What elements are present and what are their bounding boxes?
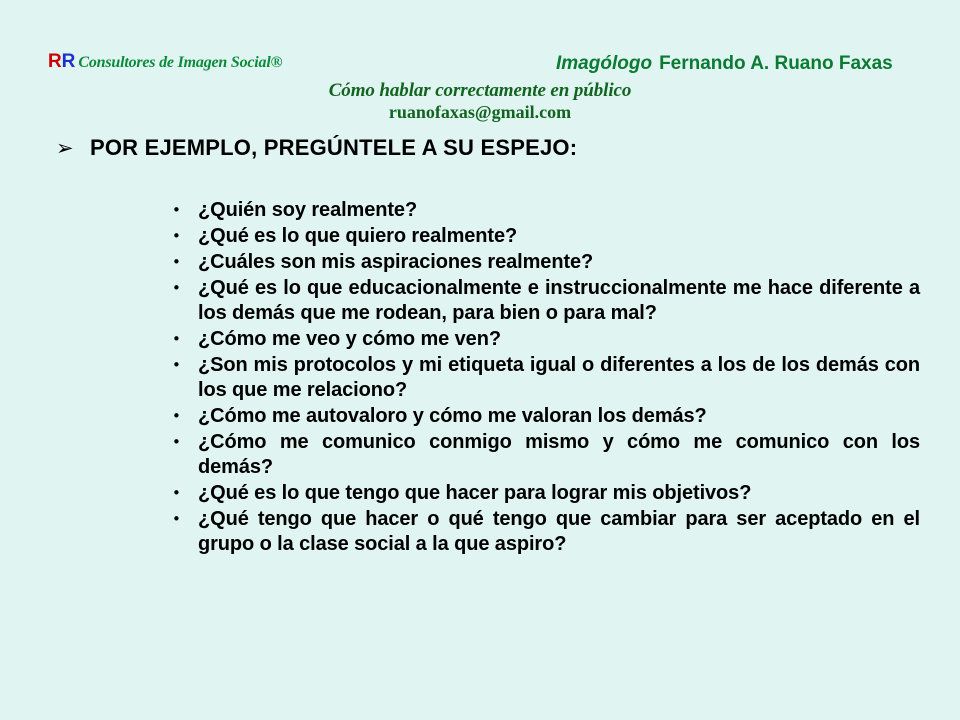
list-item-text: ¿Cómo me veo y cómo me ven? (198, 327, 920, 352)
presenter-line: ImagólogoFernando A. Ruano Faxas (556, 54, 893, 75)
round-bullet-icon: • (172, 224, 198, 249)
round-bullet-icon: • (172, 198, 198, 223)
list-item: • ¿Qué tengo que hacer o qué tengo que c… (172, 507, 920, 557)
question-list: • ¿Quién soy realmente? • ¿Qué es lo que… (172, 198, 920, 558)
round-bullet-icon: • (172, 250, 198, 275)
list-item: • ¿Cómo me comunico conmigo mismo y cómo… (172, 430, 920, 480)
section-heading: ➢ POR EJEMPLO, PREGÚNTELE A SU ESPEJO: (56, 135, 577, 161)
round-bullet-icon: • (172, 481, 198, 506)
company-logo: ЯRConsultores de Imagen Social® (48, 52, 282, 71)
presentation-subtitle: Cómo hablar correctamente en público (0, 80, 960, 102)
list-item-text: ¿Cuáles son mis aspiraciones realmente? (198, 250, 920, 275)
list-item-text: ¿Quién soy realmente? (198, 198, 920, 223)
list-item: • ¿Cuáles son mis aspiraciones realmente… (172, 250, 920, 275)
presenter-title: Imagólogo (556, 53, 652, 74)
logo-company-name: Consultores de Imagen Social® (75, 54, 282, 71)
round-bullet-icon: • (172, 404, 198, 429)
list-item: • ¿Qué es lo que tengo que hacer para lo… (172, 481, 920, 506)
round-bullet-icon: • (172, 507, 198, 532)
list-item: • ¿Qué es lo que quiero realmente? (172, 224, 920, 249)
round-bullet-icon: • (172, 353, 198, 378)
list-item-text: ¿Cómo me comunico conmigo mismo y cómo m… (198, 430, 920, 480)
contact-email: ruanofaxas@gmail.com (0, 102, 960, 123)
list-item-text: ¿Qué es lo que tengo que hacer para logr… (198, 481, 920, 506)
round-bullet-icon: • (172, 430, 198, 455)
list-item: • ¿Son mis protocolos y mi etiqueta igua… (172, 353, 920, 403)
presenter-name: Fernando A. Ruano Faxas (652, 53, 893, 74)
round-bullet-icon: • (172, 327, 198, 352)
list-item: • ¿Quién soy realmente? (172, 198, 920, 223)
list-item-text: ¿Cómo me autovaloro y cómo me valoran lo… (198, 404, 920, 429)
arrow-bullet-icon: ➢ (56, 135, 90, 161)
list-item: • ¿Cómo me autovaloro y cómo me valoran … (172, 404, 920, 429)
list-item-text: ¿Qué es lo que quiero realmente? (198, 224, 920, 249)
list-item: • ¿Cómo me veo y cómo me ven? (172, 327, 920, 352)
slide-header: ЯRConsultores de Imagen Social® Imagólog… (0, 0, 960, 128)
logo-letter-r: R (62, 51, 76, 72)
list-item-text: ¿Qué tengo que hacer o qué tengo que cam… (198, 507, 920, 557)
logo-letter-reversed-r: Я (48, 52, 62, 71)
list-item-text: ¿Qué es lo que educacionalmente e instru… (198, 276, 920, 326)
list-item-text: ¿Son mis protocolos y mi etiqueta igual … (198, 353, 920, 403)
list-item: • ¿Qué es lo que educacionalmente e inst… (172, 276, 920, 326)
page-title: POR EJEMPLO, PREGÚNTELE A SU ESPEJO: (90, 135, 577, 161)
slide-canvas: ЯRConsultores de Imagen Social® Imagólog… (0, 0, 960, 720)
round-bullet-icon: • (172, 276, 198, 301)
